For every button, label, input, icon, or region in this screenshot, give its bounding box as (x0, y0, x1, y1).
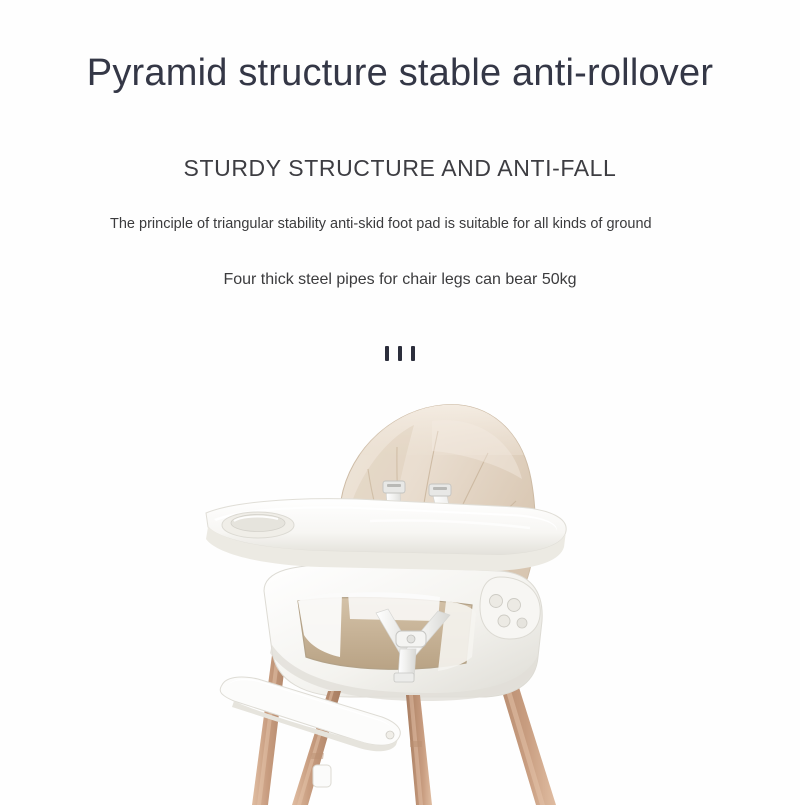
divider-bar-1 (385, 346, 389, 361)
baby-high-chair-photo (200, 395, 620, 805)
footrest-fastener (386, 731, 394, 739)
divider-bar-3 (411, 346, 415, 361)
anti-skid-foot-cap (313, 765, 331, 787)
feature-description-paragraph: The principle of triangular stability an… (110, 213, 676, 235)
feeding-tray (206, 499, 566, 571)
marketing-page: Pyramid structure stable anti-rollover S… (0, 0, 800, 800)
cup-holder-recess (222, 512, 294, 538)
three-vertical-bars-divider (0, 346, 800, 361)
divider-bar-2 (398, 346, 402, 361)
page-subtitle: STURDY STRUCTURE AND ANTI-FALL (0, 155, 800, 182)
page-title: Pyramid structure stable anti-rollover (0, 52, 800, 96)
feature-capacity-line: Four thick steel pipes for chair legs ca… (0, 271, 800, 289)
